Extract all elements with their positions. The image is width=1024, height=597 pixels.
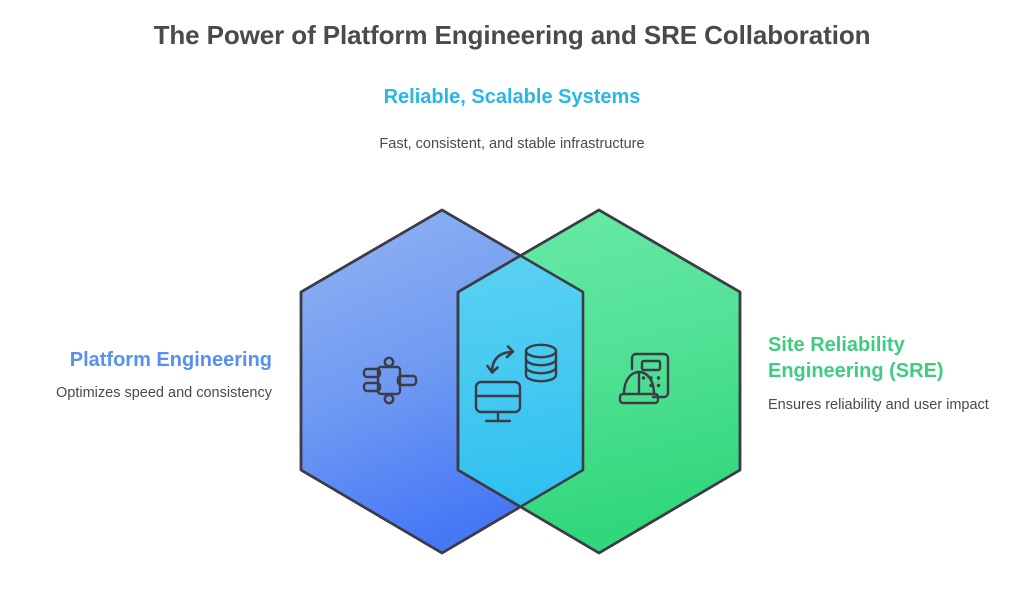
label-overlap-description: Fast, consistent, and stable infrastruct… [362,134,662,155]
label-sre-heading: Site Reliability Engineering (SRE) [768,332,1016,385]
label-platform-engineering-description: Optimizes speed and consistency [10,383,272,404]
label-sre: Site Reliability Engineering (SRE) Ensur… [768,332,1016,415]
label-platform-engineering-heading: Platform Engineering [10,347,272,373]
venn-diagram: Reliable, Scalable Systems Fast, consist… [0,0,1024,597]
label-overlap-heading: Reliable, Scalable Systems [362,84,662,110]
label-overlap: Reliable, Scalable Systems Fast, consist… [362,84,662,155]
label-platform-engineering: Platform Engineering Optimizes speed and… [10,347,272,404]
label-sre-description: Ensures reliability and user impact [768,395,1016,416]
